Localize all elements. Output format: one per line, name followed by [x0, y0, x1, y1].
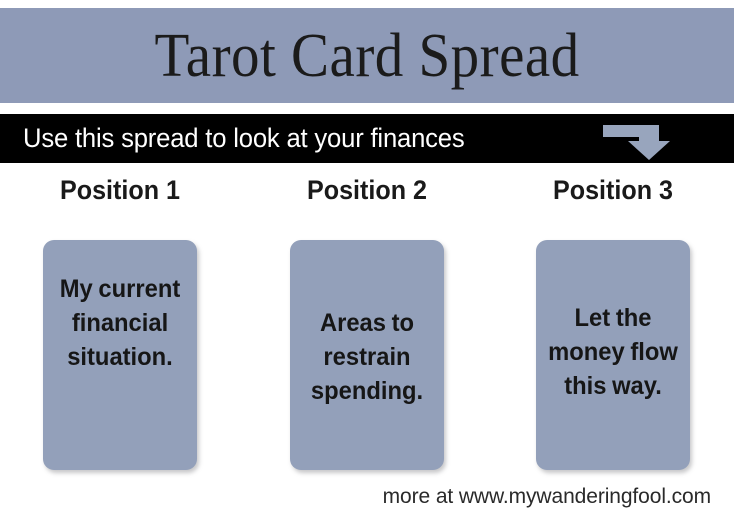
card-text: Areas to restrain spending. [301, 306, 432, 408]
tarot-card-position-2[interactable]: Areas to restrain spending. [290, 240, 444, 470]
tarot-card-position-1[interactable]: My current financial situation. [43, 240, 197, 470]
card-text: My current financial situation. [54, 272, 185, 374]
footer-attribution: more at www.mywanderingfool.com [383, 485, 711, 509]
tarot-card-position-3[interactable]: Let the money flow this way. [536, 240, 690, 470]
card-text: Let the money flow this way. [547, 301, 678, 403]
cards-layer: My current financial situation. Areas to… [0, 0, 734, 528]
